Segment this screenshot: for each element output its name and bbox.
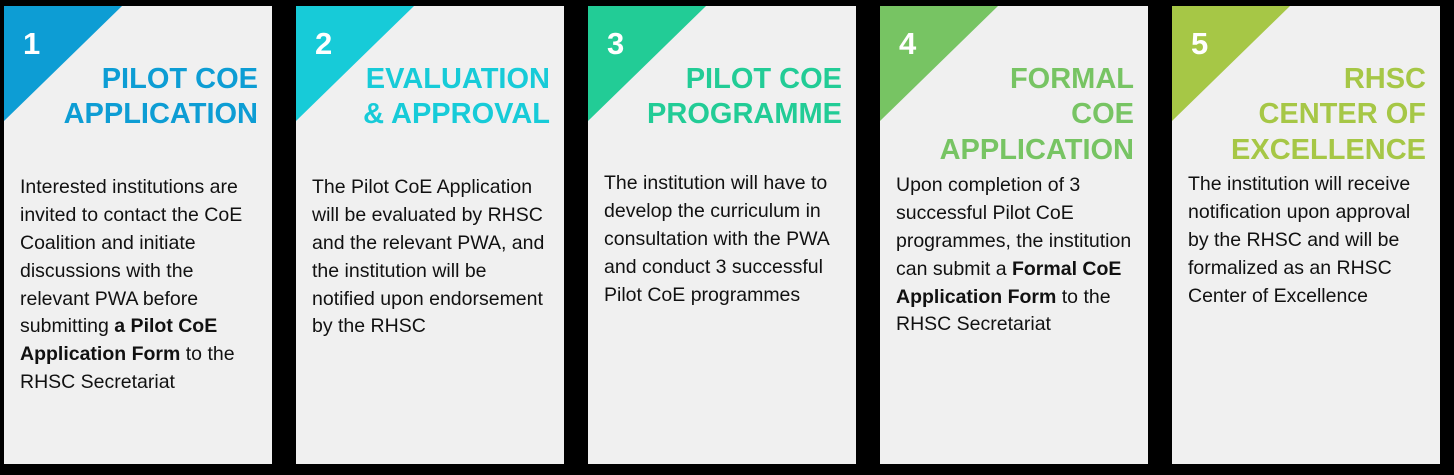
step-number-3: 3 xyxy=(607,28,624,59)
step-title-4: FORMAL COE APPLICATION xyxy=(889,62,1134,168)
step-number-2: 2 xyxy=(315,28,332,59)
step-title-5: RHSC CENTER OF EXCELLENCE xyxy=(1181,62,1426,168)
step-card-5[interactable]: 5 RHSC CENTER OF EXCELLENCE The institut… xyxy=(1172,6,1440,464)
step-title-3: PILOT COE PROGRAMME xyxy=(597,62,842,133)
process-steps-diagram: 1 PILOT COE APPLICATION Interested insti… xyxy=(0,0,1454,475)
step-body-2: The Pilot CoE Application will be evalua… xyxy=(312,174,550,341)
step-body-4: Upon completion of 3 successful Pilot Co… xyxy=(896,172,1134,339)
step-card-4[interactable]: 4 FORMAL COE APPLICATION Upon completion… xyxy=(880,6,1148,464)
step-title-1: PILOT COE APPLICATION xyxy=(13,62,258,133)
step-body-5: The institution will receive notificatio… xyxy=(1188,171,1426,310)
step-card-3[interactable]: 3 PILOT COE PROGRAMME The institution wi… xyxy=(588,6,856,464)
step-card-1[interactable]: 1 PILOT COE APPLICATION Interested insti… xyxy=(4,6,272,464)
step-body-1: Interested institutions are invited to c… xyxy=(20,174,258,397)
step-number-4: 4 xyxy=(899,28,916,59)
step-number-5: 5 xyxy=(1191,28,1208,59)
step-title-2: EVALUATION & APPROVAL xyxy=(305,62,550,133)
step-card-2[interactable]: 2 EVALUATION & APPROVAL The Pilot CoE Ap… xyxy=(296,6,564,464)
step-number-1: 1 xyxy=(23,28,40,59)
step-body-3: The institution will have to develop the… xyxy=(604,170,842,309)
